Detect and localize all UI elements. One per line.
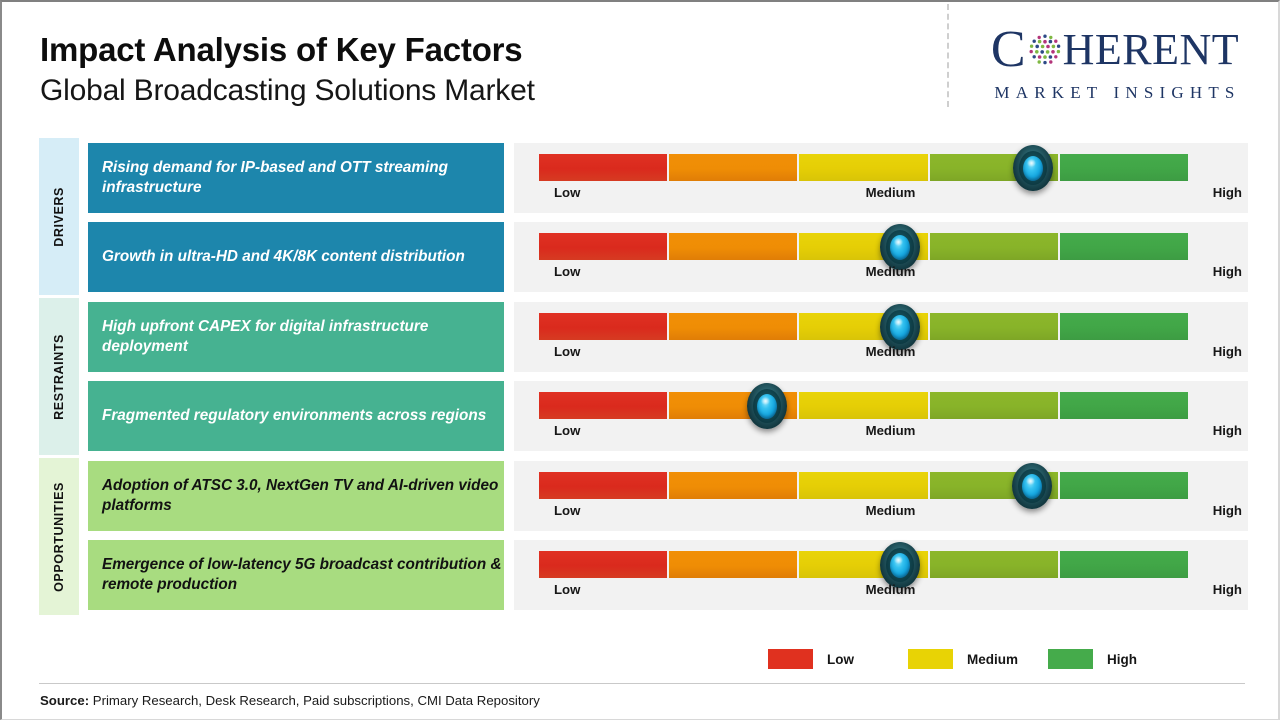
source-label: Source: — [40, 693, 89, 708]
footer-divider — [39, 683, 1245, 684]
gauge-scale-labels: Low Medium High — [539, 582, 1242, 602]
impact-marker-core — [1023, 156, 1043, 181]
gauge-scale-labels: Low Medium High — [539, 423, 1242, 443]
title-block: Impact Analysis of Key Factors Global Br… — [40, 32, 535, 109]
gauge-segment-medium-high — [930, 551, 1058, 578]
gauge-scale-labels: Low Medium High — [539, 185, 1242, 205]
logo-word-rest: HERENT — [1063, 28, 1240, 72]
factor-box[interactable]: Rising demand for IP-based and OTT strea… — [88, 143, 504, 213]
legend-label-medium: Medium — [967, 652, 1018, 667]
scale-label-high: High — [1213, 503, 1242, 518]
gauge-bar — [539, 472, 1188, 499]
gauge-segment-low — [539, 392, 667, 419]
legend-item-high: High — [1048, 649, 1188, 669]
gauge-scale-labels: Low Medium High — [539, 344, 1242, 364]
impact-matrix: DRIVERS Rising demand for IP-based and O… — [2, 138, 1280, 612]
scale-label-high: High — [1213, 423, 1242, 438]
gauge-segment-medium-high — [930, 233, 1058, 260]
page-title: Impact Analysis of Key Factors — [40, 32, 535, 69]
factor-box[interactable]: High upfront CAPEX for digital infrastru… — [88, 302, 504, 372]
scale-label-medium: Medium — [539, 344, 1242, 359]
header-dashed-divider — [947, 4, 949, 107]
factor-box[interactable]: Growth in ultra-HD and 4K/8K content dis… — [88, 222, 504, 292]
legend-swatch-medium — [908, 649, 953, 669]
gauge-scale-labels: Low Medium High — [539, 264, 1242, 284]
gauge-segment-low — [539, 233, 667, 260]
legend-swatch-low — [768, 649, 813, 669]
scale-label-medium: Medium — [539, 582, 1242, 597]
gauge-bar — [539, 313, 1188, 340]
gauge-segment-low-medium — [669, 472, 797, 499]
legend-label-low: Low — [827, 652, 854, 667]
coherent-market-insights-logo: C — [965, 24, 1265, 103]
matrix-row: Fragmented regulatory environments acros… — [2, 375, 1280, 453]
dotted-globe-icon — [1028, 31, 1062, 65]
matrix-row: DRIVERS Rising demand for IP-based and O… — [2, 138, 1280, 216]
gauge-segment-medium-high — [930, 313, 1058, 340]
gauge-scale-labels: Low Medium High — [539, 503, 1242, 523]
matrix-row: RESTRAINTS High upfront CAPEX for digita… — [2, 296, 1280, 374]
gauge-segment-high — [1060, 472, 1188, 499]
factor-box[interactable]: Emergence of low-latency 5G broadcast co… — [88, 540, 504, 610]
header: Impact Analysis of Key Factors Global Br… — [2, 2, 1280, 132]
gauge-segment-low — [539, 313, 667, 340]
gauge-segment-medium — [799, 154, 927, 181]
gauge-segment-low — [539, 154, 667, 181]
gauge-bar — [539, 392, 1188, 419]
impact-gauge[interactable]: Low Medium High — [514, 143, 1248, 213]
impact-marker-core — [1022, 474, 1042, 499]
page-subtitle: Global Broadcasting Solutions Market — [40, 73, 535, 109]
impact-marker-core — [890, 315, 910, 340]
logo-tagline: MARKET INSIGHTS — [965, 83, 1265, 103]
gauge-segment-high — [1060, 392, 1188, 419]
factor-box[interactable]: Fragmented regulatory environments acros… — [88, 381, 504, 451]
gauge-segment-high — [1060, 551, 1188, 578]
impact-gauge[interactable]: Low Medium High — [514, 381, 1248, 451]
scale-label-high: High — [1213, 582, 1242, 597]
logo-wordmark: C — [965, 24, 1265, 76]
scale-label-high: High — [1213, 344, 1242, 359]
gauge-segment-low-medium — [669, 313, 797, 340]
impact-gauge[interactable]: Low Medium High — [514, 302, 1248, 372]
scale-label-medium: Medium — [539, 264, 1242, 279]
gauge-segment-low — [539, 551, 667, 578]
matrix-row: Growth in ultra-HD and 4K/8K content dis… — [2, 217, 1280, 295]
source-note: Source: Primary Research, Desk Research,… — [40, 693, 540, 708]
impact-marker-core — [757, 394, 777, 419]
matrix-row: Emergence of low-latency 5G broadcast co… — [2, 533, 1280, 611]
gauge-segment-low-medium — [669, 233, 797, 260]
impact-marker-core — [890, 235, 910, 260]
impact-gauge[interactable]: Low Medium High — [514, 540, 1248, 610]
gauge-segment-medium — [799, 472, 927, 499]
scale-label-medium: Medium — [539, 185, 1242, 200]
gauge-bar — [539, 233, 1188, 260]
factor-box[interactable]: Adoption of ATSC 3.0, NextGen TV and AI-… — [88, 461, 504, 531]
legend-swatch-high — [1048, 649, 1093, 669]
gauge-segment-high — [1060, 233, 1188, 260]
logo-letter-c: C — [991, 24, 1027, 76]
gauge-segment-high — [1060, 154, 1188, 181]
gauge-segment-medium-high — [930, 392, 1058, 419]
scale-label-medium: Medium — [539, 503, 1242, 518]
scale-label-high: High — [1213, 264, 1242, 279]
gauge-segment-high — [1060, 313, 1188, 340]
gauge-segment-medium — [799, 392, 927, 419]
impact-gauge[interactable]: Low Medium High — [514, 461, 1248, 531]
gauge-bar — [539, 551, 1188, 578]
legend-item-medium: Medium — [908, 649, 1048, 669]
scale-label-medium: Medium — [539, 423, 1242, 438]
gauge-bar — [539, 154, 1188, 181]
scale-label-high: High — [1213, 185, 1242, 200]
gauge-segment-low-medium — [669, 154, 797, 181]
source-text: Primary Research, Desk Research, Paid su… — [89, 693, 540, 708]
impact-gauge[interactable]: Low Medium High — [514, 222, 1248, 292]
legend-label-high: High — [1107, 652, 1137, 667]
gauge-segment-low — [539, 472, 667, 499]
gauge-segment-low-medium — [669, 551, 797, 578]
matrix-row: OPPORTUNITIES Adoption of ATSC 3.0, Next… — [2, 454, 1280, 532]
legend: Low Medium High — [768, 646, 1188, 672]
impact-marker-core — [890, 553, 910, 578]
legend-item-low: Low — [768, 649, 908, 669]
